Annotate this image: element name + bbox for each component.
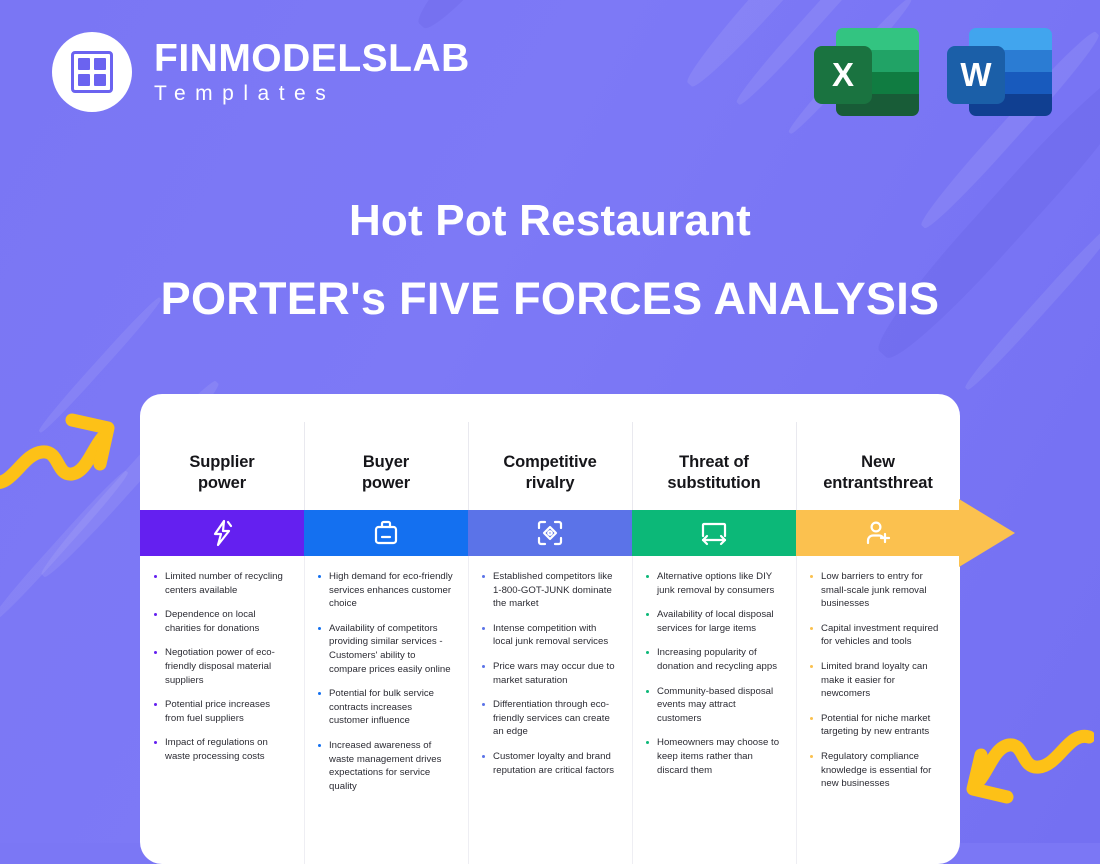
bullet-item: Availability of local disposal services …: [644, 608, 782, 635]
grid-squares-icon: [71, 51, 113, 93]
page-subtitle: PORTER's FIVE FORCES ANALYSIS: [0, 273, 1100, 325]
column-header-competitive-rivalry: Competitive rivalry: [468, 394, 632, 510]
page-title: Hot Pot Restaurant: [0, 196, 1100, 247]
excel-icon: X: [814, 28, 919, 120]
bullet-list: Low barriers to entry for small-scale ju…: [808, 570, 946, 791]
title-block: Hot Pot Restaurant PORTER's FIVE FORCES …: [0, 196, 1100, 324]
target-focus-icon: [536, 519, 564, 547]
briefcase-icon: [373, 519, 399, 547]
bullet-item: Differentiation through eco-friendly ser…: [480, 698, 618, 739]
column-header-threat-of-substitution: Threat of substitution: [632, 394, 796, 510]
column-title-line2: substitution: [667, 474, 760, 492]
bullets-competitive-rivalry: Established competitors like 1-800-GOT-J…: [468, 556, 632, 864]
bullet-item: Capital investment required for vehicles…: [808, 622, 946, 649]
excel-letter: X: [814, 46, 872, 104]
bar-segment-threat-of-substitution: [632, 510, 796, 556]
brand-name: FINMODELSLAB: [154, 39, 470, 79]
bullet-item: Potential for bulk service contracts inc…: [316, 687, 454, 728]
word-letter: W: [947, 46, 1005, 104]
five-forces-card: Supplier power Buyer power Competitive r…: [140, 394, 960, 864]
brand-text: FINMODELSLAB Templates: [154, 39, 470, 106]
bullets-buyer-power: High demand for eco-friendly services en…: [304, 556, 468, 864]
column-title: Threat of substitution: [667, 452, 760, 494]
column-header-new-entrants-threat: New entrantsthreat: [796, 394, 960, 510]
bullet-item: Potential for niche market targeting by …: [808, 712, 946, 739]
word-icon: W: [947, 28, 1052, 120]
bullet-list: Alternative options like DIY junk remova…: [644, 570, 782, 777]
force-bullets-row: Limited number of recycling centers avai…: [140, 556, 960, 864]
column-title-line2: power: [362, 474, 410, 492]
column-title: New entrantsthreat: [823, 452, 933, 494]
bullet-list: Limited number of recycling centers avai…: [152, 570, 290, 764]
bullet-item: Dependence on local charities for donati…: [152, 608, 290, 635]
column-title-line1: New: [861, 453, 895, 471]
add-user-icon: [864, 519, 892, 547]
bullet-item: Intense competition with local junk remo…: [480, 622, 618, 649]
bullet-item: Customer loyalty and brand reputation ar…: [480, 750, 618, 777]
bar-segment-new-entrants-threat: [796, 510, 960, 556]
bullet-item: Regulatory compliance knowledge is essen…: [808, 750, 946, 791]
brand-subtitle: Templates: [154, 82, 470, 105]
bullet-item: Potential price increases from fuel supp…: [152, 698, 290, 725]
column-header-supplier-power: Supplier power: [140, 394, 304, 510]
bullet-item: Limited number of recycling centers avai…: [152, 570, 290, 597]
bullet-item: Negotiation power of eco-friendly dispos…: [152, 646, 290, 687]
bullet-item: Availability of competitors providing si…: [316, 622, 454, 676]
column-title-line1: Supplier: [189, 453, 254, 471]
bullet-item: Increased awareness of waste management …: [316, 739, 454, 793]
column-header-buyer-power: Buyer power: [304, 394, 468, 510]
office-icons-group: X W: [814, 28, 1052, 120]
bullet-item: Homeowners may choose to keep items rath…: [644, 736, 782, 777]
bullet-list: High demand for eco-friendly services en…: [316, 570, 454, 794]
arrow-tip-shape: [959, 499, 1015, 567]
column-headers-row: Supplier power Buyer power Competitive r…: [140, 394, 960, 510]
brand-header: FINMODELSLAB Templates: [52, 32, 470, 112]
decorative-arrow-down-left-icon: [959, 725, 1094, 815]
column-title: Competitive rivalry: [503, 452, 596, 494]
column-title-line2: entrantsthreat: [823, 474, 933, 492]
bullet-item: Community-based disposal events may attr…: [644, 685, 782, 726]
bullet-item: High demand for eco-friendly services en…: [316, 570, 454, 611]
bar-segment-competitive-rivalry: [468, 510, 632, 556]
column-title-line1: Threat of: [679, 453, 749, 471]
bullets-threat-of-substitution: Alternative options like DIY junk remova…: [632, 556, 796, 864]
bullet-item: Increasing popularity of donation and re…: [644, 646, 782, 673]
bullets-supplier-power: Limited number of recycling centers avai…: [140, 556, 304, 864]
bar-segment-supplier-power: [140, 510, 304, 556]
bullet-item: Impact of regulations on waste processin…: [152, 736, 290, 763]
bullet-item: Alternative options like DIY junk remova…: [644, 570, 782, 597]
bullets-new-entrants-threat: Low barriers to entry for small-scale ju…: [796, 556, 960, 864]
bullet-list: Established competitors like 1-800-GOT-J…: [480, 570, 618, 777]
bullet-item: Low barriers to entry for small-scale ju…: [808, 570, 946, 611]
bullet-item: Price wars may occur due to market satur…: [480, 660, 618, 687]
bullet-item: Limited brand loyalty can make it easier…: [808, 660, 946, 701]
logo-circle: [52, 32, 132, 112]
column-title-line2: rivalry: [526, 474, 575, 492]
decorative-arrow-up-right-icon: [0, 404, 125, 504]
column-title-line2: power: [198, 474, 246, 492]
column-title-line1: Competitive: [503, 453, 596, 471]
bar-segment-buyer-power: [304, 510, 468, 556]
brush-stroke: [410, 0, 559, 36]
lightning-bolt-icon: [209, 519, 235, 547]
column-title: Buyer power: [362, 452, 410, 494]
exchange-arrows-icon: [699, 520, 729, 546]
force-color-bar: [140, 510, 960, 556]
column-title-line1: Buyer: [363, 453, 409, 471]
column-title: Supplier power: [189, 452, 254, 494]
bullet-item: Established competitors like 1-800-GOT-J…: [480, 570, 618, 611]
